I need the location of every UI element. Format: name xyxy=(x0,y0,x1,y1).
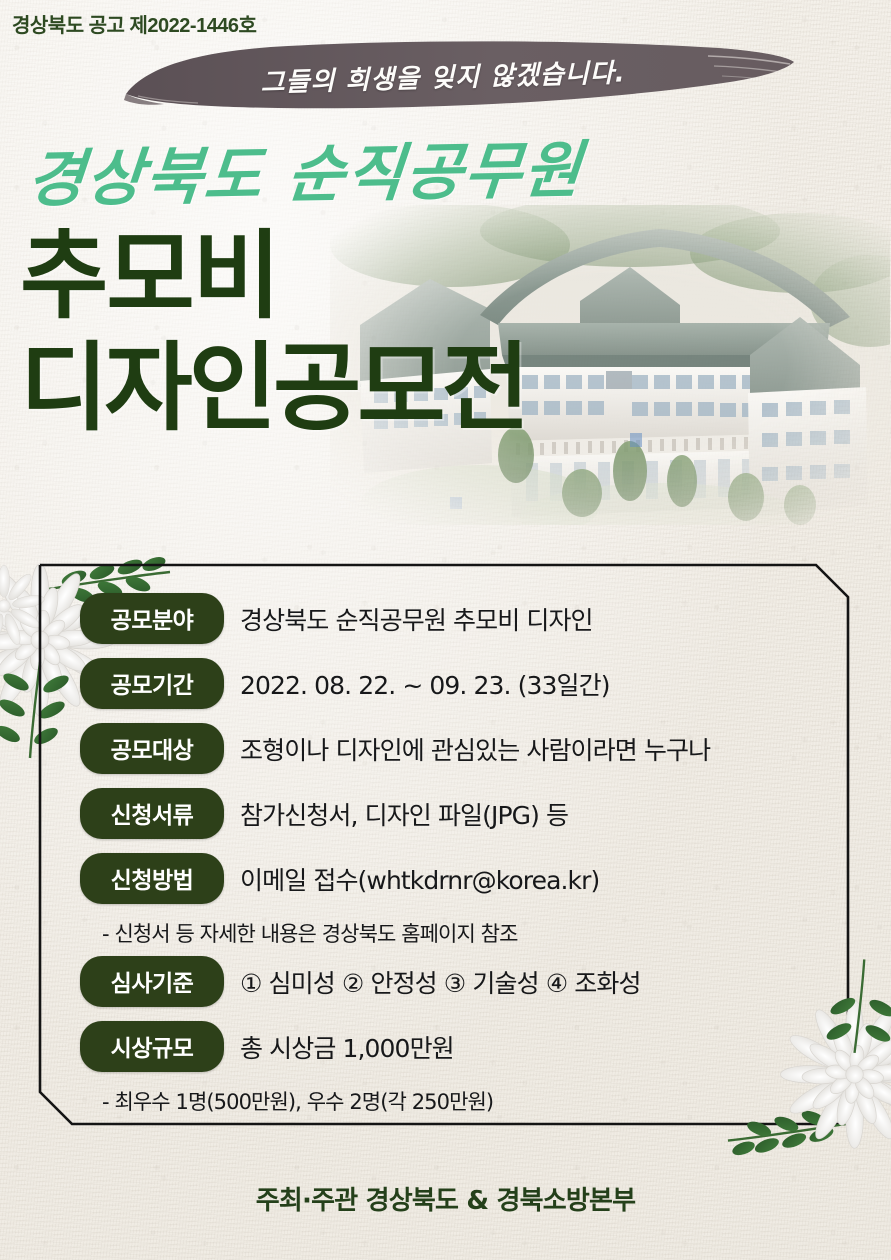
organizer-footer: 주최·주관 경상북도 & 경북소방본부 xyxy=(0,1180,891,1217)
info-label: 공모대상 xyxy=(80,723,224,774)
info-label: 심사기준 xyxy=(80,956,224,1007)
info-label: 신청방법 xyxy=(80,853,224,904)
info-label: 시상규모 xyxy=(80,1021,224,1072)
info-row: 공모대상 조형이나 디자인에 관심있는 사람이라면 누구나 xyxy=(80,723,840,774)
info-row: 신청서류 참가신청서, 디자인 파일(JPG) 등 xyxy=(80,788,840,839)
info-row: 심사기준 ① 심미성 ② 안정성 ③ 기술성 ④ 조화성 xyxy=(80,956,840,1007)
brush-banner: 그들의 희생을 잊지 않겠습니다. xyxy=(118,36,798,114)
title-eyebrow: 경상북도 순직공무원 xyxy=(24,119,588,219)
info-row-list: 공모분야 경상북도 순직공무원 추모비 디자인 공모기간 2022. 08. 2… xyxy=(80,593,840,1124)
info-label: 공모기간 xyxy=(80,658,224,709)
page-title: 추모비 디자인공모전 xyxy=(20,228,526,438)
info-value: ① 심미성 ② 안정성 ③ 기술성 ④ 조화성 xyxy=(240,964,641,1000)
info-value-email: 이메일 접수(whtkdrnr@korea.kr) xyxy=(240,861,599,897)
title-line-2: 디자인공모전 xyxy=(20,340,526,438)
info-label: 신청서류 xyxy=(80,788,224,839)
info-row: 신청방법 이메일 접수(whtkdrnr@korea.kr) xyxy=(80,853,840,904)
poster-canvas: 경상북도 공고 제2022-1446호 그들의 희생을 잊지 않겠습니다. xyxy=(0,0,891,1260)
info-row: 시상규모 총 시상금 1,000만원 xyxy=(80,1021,840,1072)
title-line-1: 추모비 xyxy=(20,228,526,326)
info-row: 공모기간 2022. 08. 22. ~ 09. 23. (33일간) xyxy=(80,658,840,709)
info-box: 공모분야 경상북도 순직공무원 추모비 디자인 공모기간 2022. 08. 2… xyxy=(38,563,850,1126)
notice-number: 경상북도 공고 제2022-1446호 xyxy=(12,9,256,38)
info-value: 조형이나 디자인에 관심있는 사람이라면 누구나 xyxy=(240,731,710,767)
info-value: 총 시상금 1,000만원 xyxy=(240,1029,454,1065)
info-note: - 신청서 등 자세한 내용은 경상북도 홈페이지 참조 xyxy=(102,918,840,948)
info-note: - 최우수 1명(500만원), 우수 2명(각 250만원) xyxy=(102,1086,840,1116)
info-value: 경상북도 순직공무원 추모비 디자인 xyxy=(240,601,593,637)
info-label: 공모분야 xyxy=(80,593,224,644)
info-value: 2022. 08. 22. ~ 09. 23. (33일간) xyxy=(240,666,610,702)
info-value: 참가신청서, 디자인 파일(JPG) 등 xyxy=(240,796,568,832)
info-row: 공모분야 경상북도 순직공무원 추모비 디자인 xyxy=(80,593,840,644)
